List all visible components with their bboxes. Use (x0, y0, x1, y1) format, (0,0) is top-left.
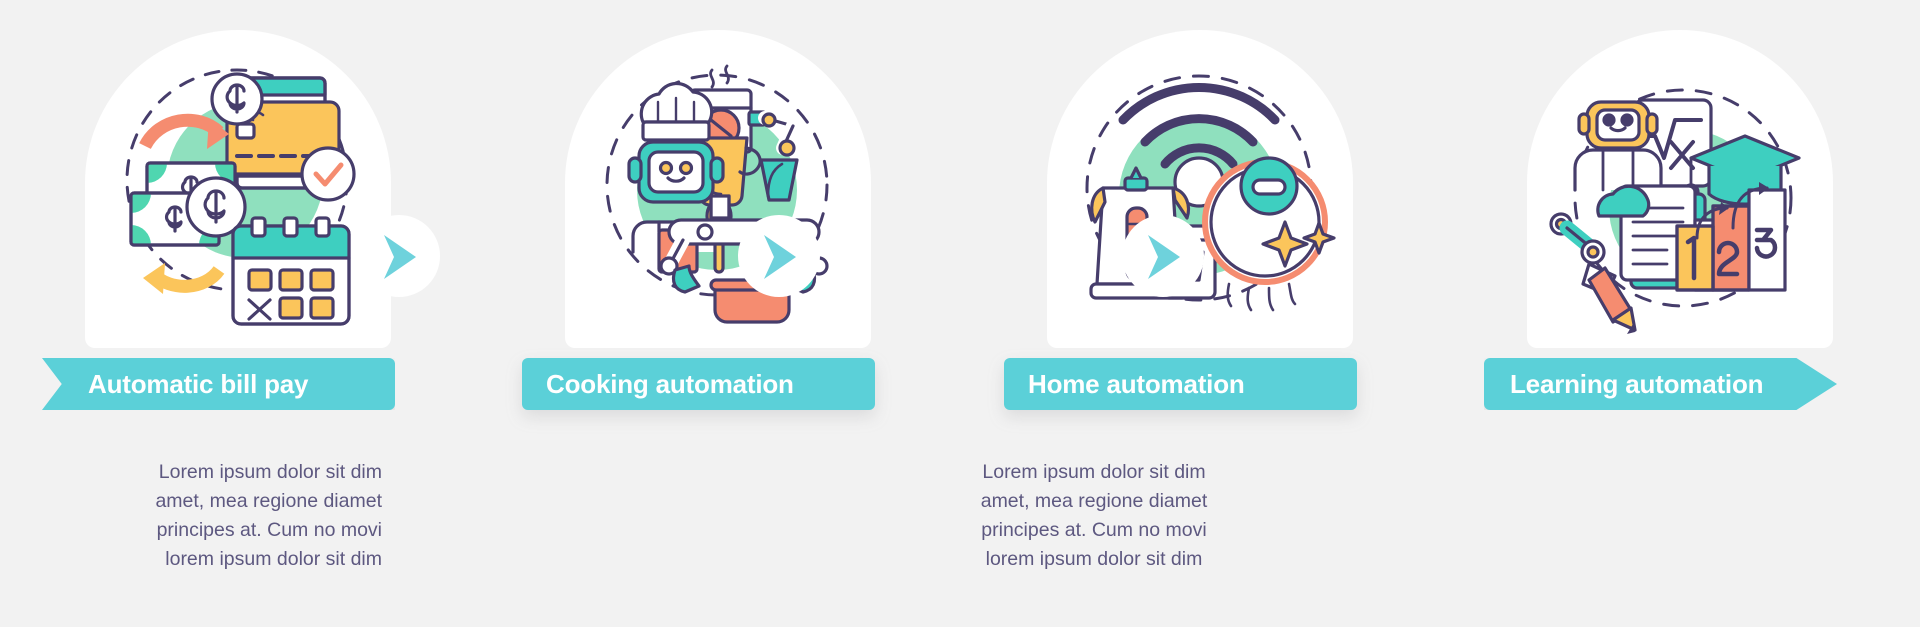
step-banner-learning-automation[interactable]: Learning automation (1484, 358, 1837, 410)
step-banner-home-automation[interactable]: Home automation (1004, 358, 1357, 410)
illustration-card (85, 30, 391, 348)
step-title: Home automation (1004, 369, 1245, 400)
step-home-automation: Home automation Lorem ipsum dolor sit di… (962, 0, 1442, 627)
bill-pay-illustration (85, 30, 391, 348)
step-title: Learning automation (1484, 369, 1763, 400)
step-title: Automatic bill pay (42, 369, 308, 400)
cooking-illustration (565, 30, 871, 348)
illustration-card (1527, 30, 1833, 348)
step-automatic-bill-pay: Automatic bill pay Lorem ipsum dolor sit… (0, 0, 480, 627)
home-automation-illustration (1047, 30, 1353, 348)
illustration-card (565, 30, 871, 348)
chevron-right-arrow-icon (762, 234, 798, 280)
learning-illustration (1527, 30, 1833, 348)
illustration-card (1047, 30, 1353, 348)
connector-arrow-1 (358, 215, 440, 297)
process-infographic: Automatic bill pay Lorem ipsum dolor sit… (0, 0, 1920, 627)
connector-arrow-2 (738, 215, 820, 297)
step-banner-automatic-bill-pay[interactable]: Automatic bill pay (42, 358, 395, 410)
connector-arrow-3 (1122, 215, 1204, 297)
step-banner-cooking-automation[interactable]: Cooking automation (522, 358, 875, 410)
step-description: Lorem ipsum dolor sit dim amet, mea regi… (120, 458, 382, 574)
step-title: Cooking automation (522, 369, 794, 400)
step-cooking-automation: Cooking automation Lorem ipsum dolor sit… (480, 0, 960, 627)
chevron-right-arrow-icon (382, 234, 418, 280)
step-learning-automation: Learning automation Lorem ipsum dolor si… (1442, 0, 1920, 627)
chevron-right-arrow-icon (1146, 234, 1182, 280)
